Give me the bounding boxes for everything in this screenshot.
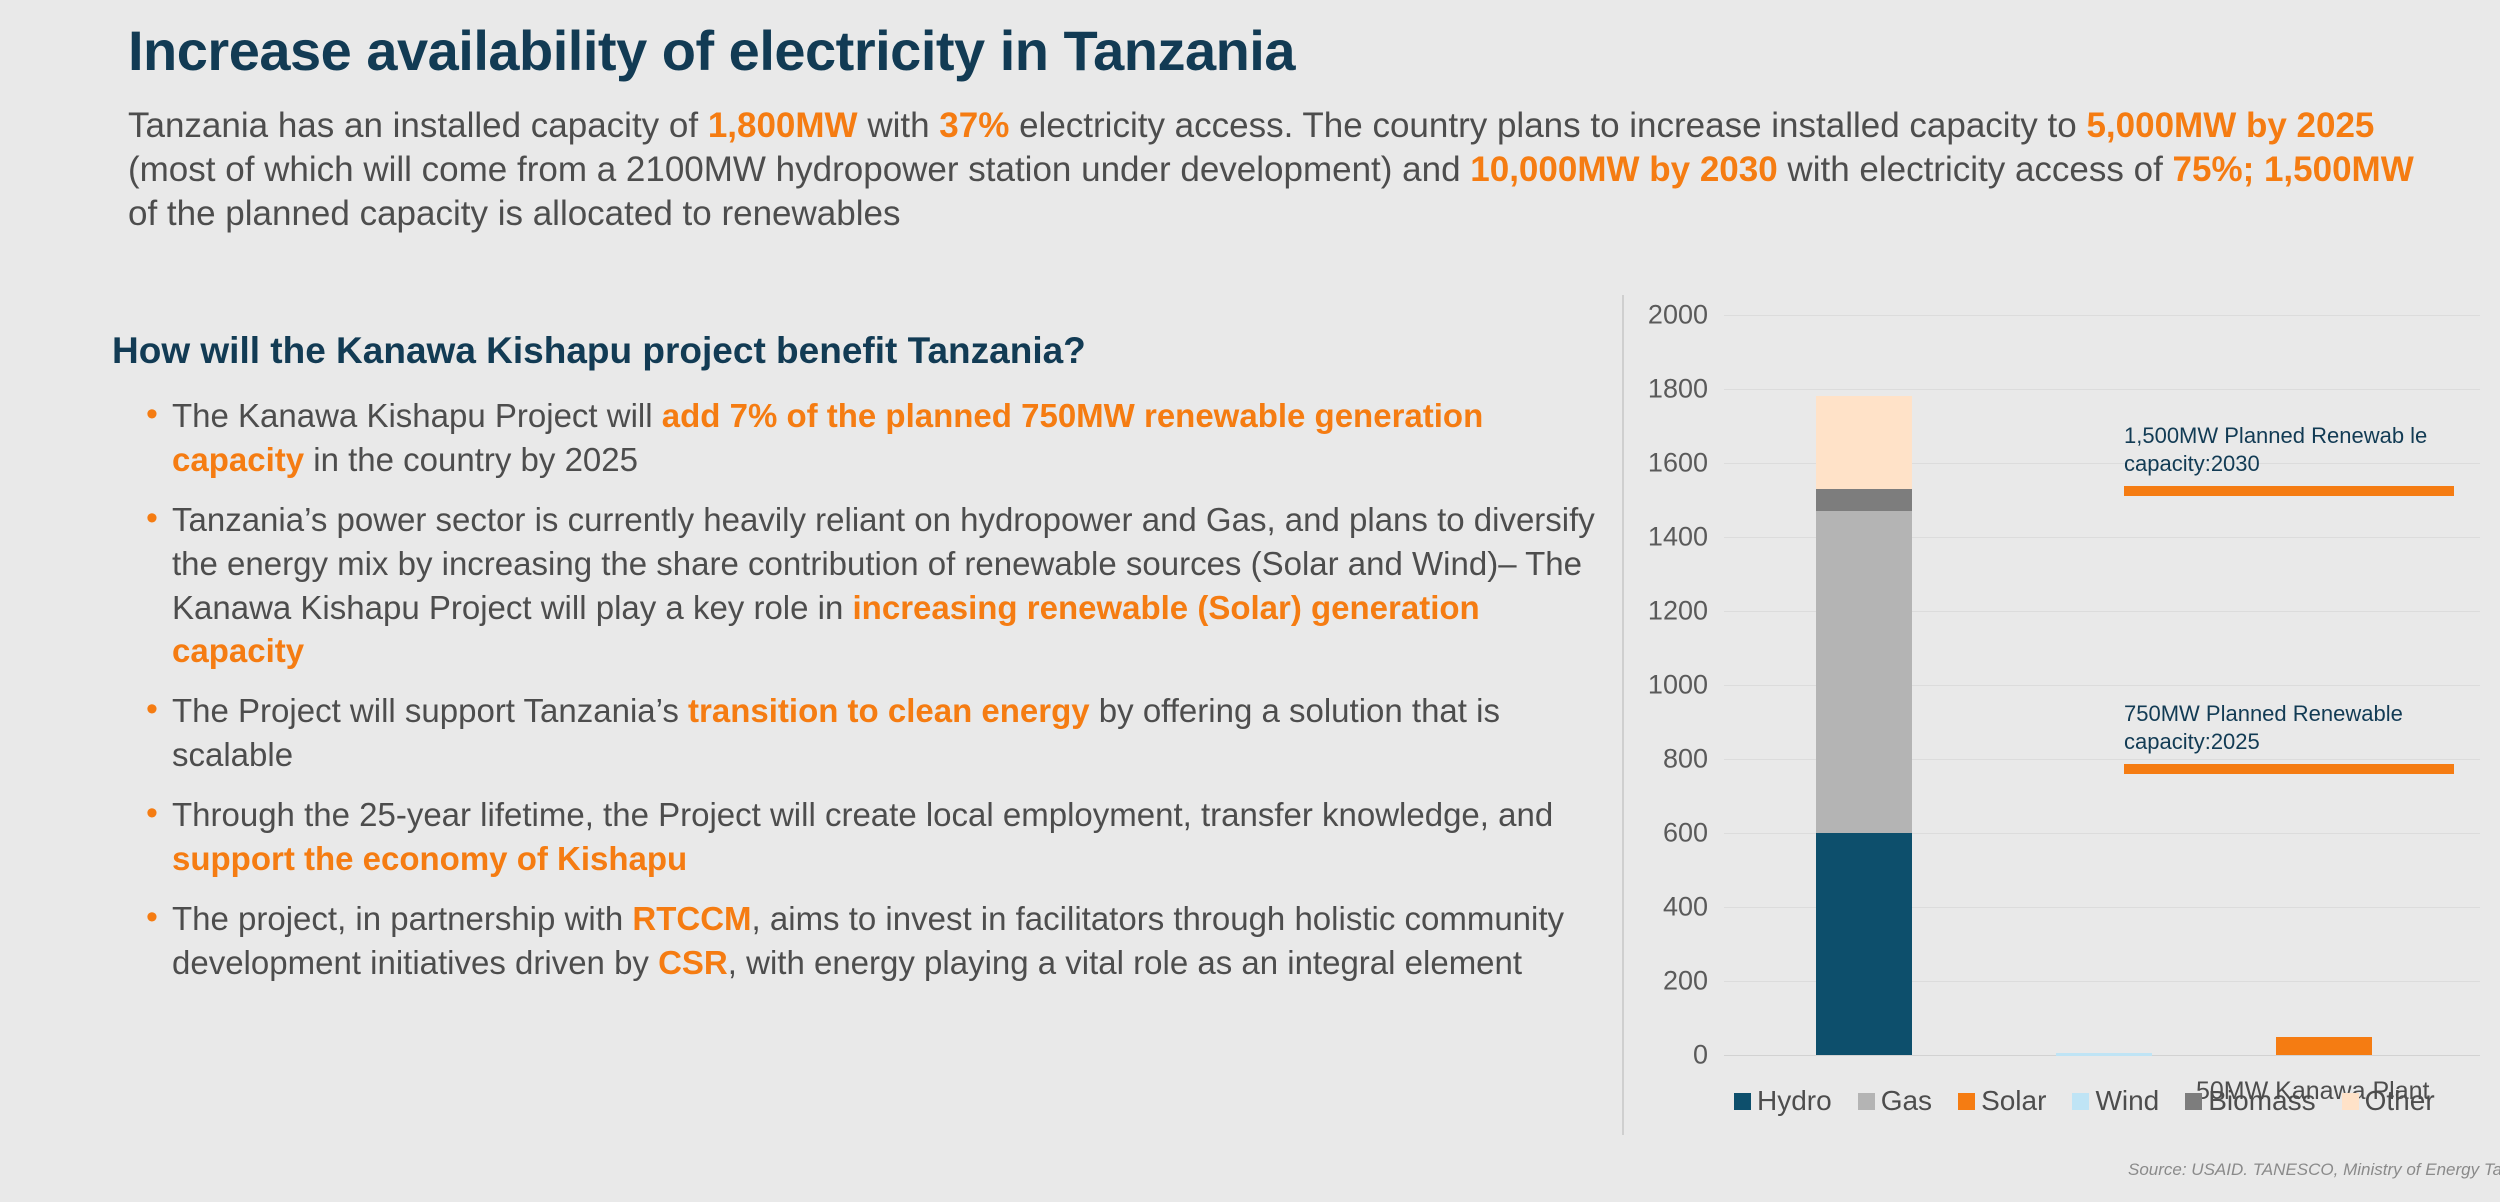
intro-highlight-5: 5,000MW by 2025 (2086, 106, 2374, 145)
capacity-chart: 020040060080010001200140016001800200050M… (1624, 295, 2500, 1185)
bullet-2-text-0: The Project will support Tanzania’s (172, 692, 688, 729)
y-axis-tick-label: 1800 (1648, 374, 1708, 405)
chart-legend: HydroGasSolarWindBiomassOther (1734, 1085, 2435, 1117)
bar-segment-gas (1816, 511, 1912, 833)
bullet-4-text-4: , with energy playing a vital role as an… (728, 944, 1522, 981)
bullet-item: The Project will support Tanzania’s tran… (100, 689, 1620, 777)
bullet-4-text-0: The project, in partnership with (172, 900, 632, 937)
y-axis-tick-label: 1000 (1648, 670, 1708, 701)
bullet-2-highlight-1: transition to clean energy (688, 692, 1090, 729)
bullet-3-highlight-1: support the economy of Kishapu (172, 840, 687, 877)
intro-text-2: with (858, 106, 940, 145)
intro-text-6: (most of which will come from a 2100MW h… (128, 150, 1470, 189)
bullet-0-text-2: in the country by 2025 (304, 441, 638, 478)
intro-highlight-9: 75%; 1,500MW (2173, 150, 2414, 189)
chart-source-note: Source: USAID. TANESCO, Ministry of Ener… (2128, 1160, 2500, 1180)
annotation-rule (2124, 764, 2454, 774)
legend-label: Hydro (1757, 1085, 1832, 1117)
slide-root: Increase availability of electricity in … (0, 0, 2500, 1202)
legend-label: Solar (1981, 1085, 2046, 1117)
legend-swatch-other (2342, 1093, 2359, 1110)
intro-highlight-1: 1,800MW (708, 106, 858, 145)
y-axis-tick-label: 400 (1663, 892, 1708, 923)
bullet-4-highlight-3: CSR (658, 944, 728, 981)
legend-swatch-biomass (2185, 1093, 2202, 1110)
page-title: Increase availability of electricity in … (128, 18, 1295, 83)
legend-swatch-wind (2072, 1093, 2089, 1110)
y-axis-tick-label: 0 (1693, 1040, 1708, 1071)
benefits-bullet-list: The Kanawa Kishapu Project will add 7% o… (100, 394, 1620, 985)
y-axis-tick-label: 1400 (1648, 522, 1708, 553)
chart-annotation: 1,500MW Planned Renewab lecapacity:2030 (2124, 422, 2454, 496)
legend-label: Wind (2095, 1085, 2159, 1117)
annotation-label-line2: capacity:2030 (2124, 450, 2454, 478)
bullet-3-text-0: Through the 25-year lifetime, the Projec… (172, 796, 1553, 833)
y-axis-tick-label: 200 (1663, 966, 1708, 997)
intro-highlight-7: 10,000MW by 2030 (1470, 150, 1777, 189)
y-axis-tick-label: 1600 (1648, 448, 1708, 479)
intro-text-10: of the planned capacity is allocated to … (128, 194, 900, 233)
legend-label: Biomass (2208, 1085, 2315, 1117)
left-content-column: How will the Kanawa Kishapu project bene… (100, 330, 1620, 1001)
intro-text-8: with electricity access of (1778, 150, 2173, 189)
intro-highlight-3: 37% (939, 106, 1009, 145)
legend-item-biomass[interactable]: Biomass (2185, 1085, 2315, 1117)
bullet-item: The project, in partnership with RTCCM, … (100, 897, 1620, 985)
legend-item-wind[interactable]: Wind (2072, 1085, 2159, 1117)
legend-item-hydro[interactable]: Hydro (1734, 1085, 1832, 1117)
intro-paragraph: Tanzania has an installed capacity of 1,… (128, 104, 2418, 236)
annotation-rule (2124, 486, 2454, 496)
legend-item-gas[interactable]: Gas (1858, 1085, 1932, 1117)
y-axis-tick-label: 600 (1663, 818, 1708, 849)
legend-item-solar[interactable]: Solar (1958, 1085, 2046, 1117)
legend-item-other[interactable]: Other (2342, 1085, 2435, 1117)
legend-label: Gas (1881, 1085, 1932, 1117)
legend-label: Other (2365, 1085, 2435, 1117)
y-axis-tick-label: 800 (1663, 744, 1708, 775)
intro-text-4: electricity access. The country plans to… (1009, 106, 2086, 145)
bar-segment-wind (2056, 1053, 2152, 1056)
bar-segment-biomass (1816, 489, 1912, 511)
legend-swatch-gas (1858, 1093, 1875, 1110)
annotation-label-line1: 1,500MW Planned Renewab le (2124, 422, 2454, 450)
bullet-item: The Kanawa Kishapu Project will add 7% o… (100, 394, 1620, 482)
annotation-label-line1: 750MW Planned Renewable (2124, 700, 2454, 728)
bullet-4-highlight-1: RTCCM (632, 900, 751, 937)
bar-segment-other (1816, 396, 1912, 489)
bar-segment-solar (2276, 1037, 2372, 1056)
bullet-0-text-0: The Kanawa Kishapu Project will (172, 397, 662, 434)
bullet-item: Through the 25-year lifetime, the Projec… (100, 793, 1620, 881)
legend-swatch-solar (1958, 1093, 1975, 1110)
y-axis-tick-label: 1200 (1648, 596, 1708, 627)
legend-swatch-hydro (1734, 1093, 1751, 1110)
chart-bar (1816, 315, 1912, 1055)
y-axis-tick-label: 2000 (1648, 300, 1708, 331)
intro-text-0: Tanzania has an installed capacity of (128, 106, 708, 145)
bar-segment-hydro (1816, 833, 1912, 1055)
section-heading: How will the Kanawa Kishapu project bene… (112, 330, 1620, 372)
bullet-item: Tanzania’s power sector is currently hea… (100, 498, 1620, 674)
annotation-label-line2: capacity:2025 (2124, 728, 2454, 756)
chart-plot-area: 020040060080010001200140016001800200050M… (1724, 315, 2480, 1055)
chart-annotation: 750MW Planned Renewablecapacity:2025 (2124, 700, 2454, 774)
